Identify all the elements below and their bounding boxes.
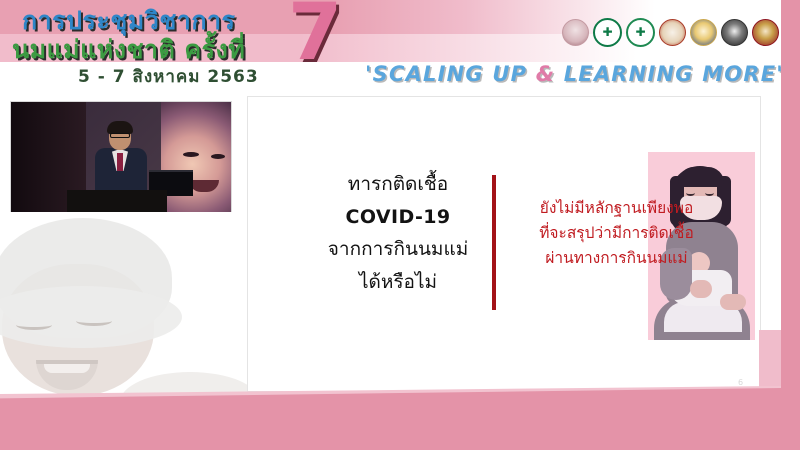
tagline-ampersand: & — [536, 62, 556, 86]
question-text-block: ทารกติดเชื้อ COVID-19 จากการกินนมแม่ ได้… — [318, 168, 478, 299]
mother-hand — [690, 280, 712, 298]
answer-line-2: ที่จะสรุปว่ามีการติดเชื้อ — [504, 221, 729, 246]
red-circle-emblem-logo — [752, 19, 779, 46]
answer-line-1: ยังไม่มีหลักฐานเพียงพอ — [504, 196, 729, 221]
page-number: 6 — [738, 378, 743, 387]
conference-date-range: 5 - 7 สิงหาคม 2563 — [78, 63, 259, 90]
ministry-public-health-logo: ✚ — [593, 18, 622, 47]
royal-garuda-logo — [690, 19, 717, 46]
baby-eye-left — [183, 152, 199, 157]
child-teeth — [44, 364, 90, 373]
speaker-at-podium-photo — [10, 101, 232, 214]
child-eye-left — [16, 320, 52, 330]
question-line-4: ได้หรือไม่ — [318, 266, 478, 299]
royal-emblem-logo — [562, 19, 589, 46]
conference-edition-number: 7 — [288, 0, 342, 72]
health-department-logo: ✚ — [626, 18, 655, 47]
podium — [67, 190, 167, 214]
tagline-suffix: LEARNING MORE' — [555, 62, 781, 86]
vertical-red-divider — [492, 175, 496, 310]
slide-canvas: การประชุมวิชาการ นมแม่แห่งชาติ ครั้งที่ … — [0, 0, 800, 450]
government-seal-logo — [659, 19, 686, 46]
answer-text-block: ยังไม่มีหลักฐานเพียงพอ ที่จะสรุปว่ามีการ… — [504, 196, 729, 271]
question-line-1: ทารกติดเชื้อ — [318, 168, 478, 201]
smiling-child-background-photo — [0, 212, 247, 402]
question-line-2: COVID-19 — [318, 201, 478, 234]
caduceus-icon: ✚ — [634, 26, 647, 39]
mother-hair-fringe — [678, 167, 724, 187]
tagline-prefix: 'SCALING UP — [365, 62, 536, 86]
conference-tagline: 'SCALING UP & LEARNING MORE' — [365, 62, 781, 86]
question-line-3: จากการกินนมแม่ — [318, 233, 478, 266]
baby-eye-right — [211, 154, 225, 159]
speaker-tie — [117, 153, 123, 171]
speaker-glasses-icon — [110, 133, 130, 138]
black-circle-emblem-logo — [721, 19, 748, 46]
mother-foot — [720, 294, 746, 310]
answer-line-3: ผ่านทางการกินนมแม่ — [504, 246, 729, 271]
sponsor-logo-row: ✚ ✚ สสส Thai Health — [562, 18, 781, 47]
child-eye-right — [76, 316, 112, 326]
caduceus-icon: ✚ — [601, 26, 614, 39]
slide-inner-page: การประชุมวิชาการ นมแม่แห่งชาติ ครั้งที่ … — [0, 0, 781, 435]
